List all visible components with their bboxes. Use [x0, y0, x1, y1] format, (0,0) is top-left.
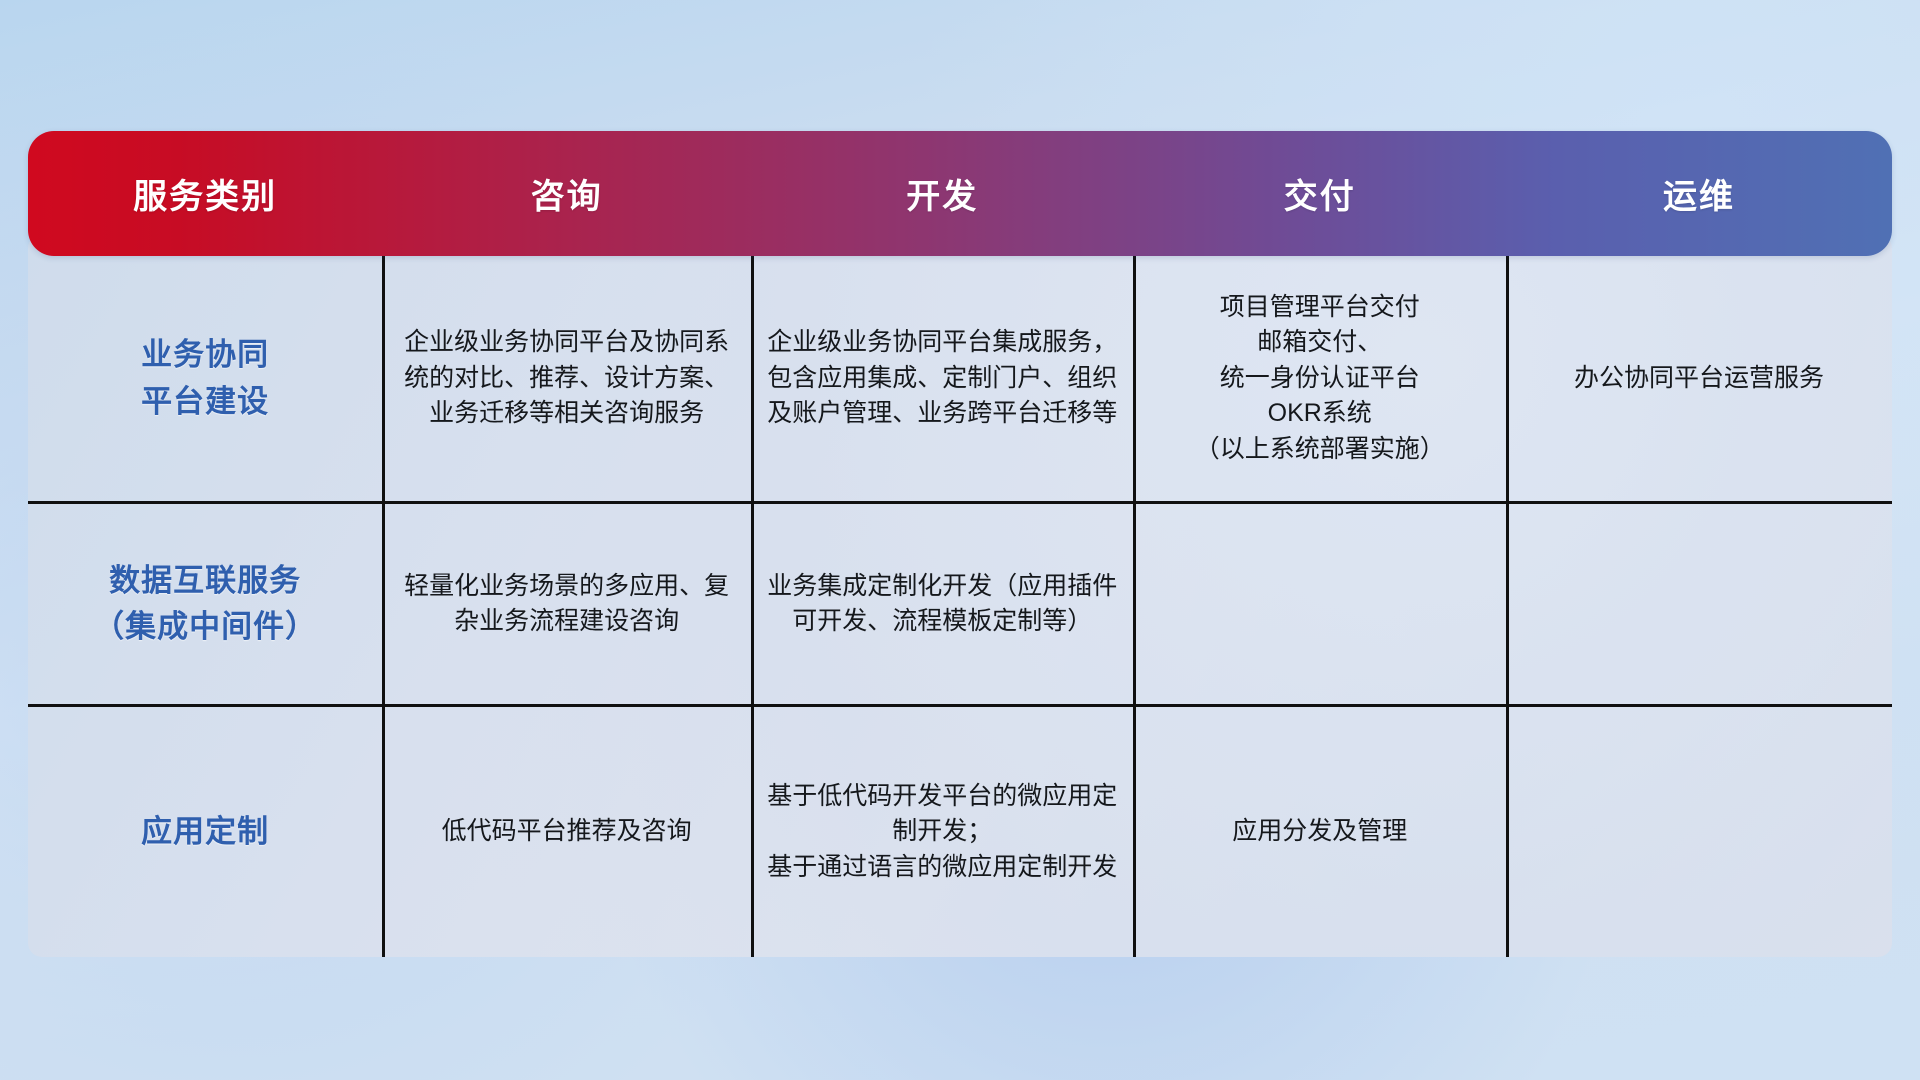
- column-header-delivery: 交付: [1133, 131, 1506, 256]
- table-row: 业务协同 平台建设 企业级业务协同平台及协同系 统的对比、推荐、设计方案、 业务…: [28, 256, 1892, 501]
- column-header-category: 服务类别: [28, 131, 382, 256]
- table-row: 应用定制 低代码平台推荐及咨询 基于低代码开发平台的微应用定 制开发； 基于通过…: [28, 704, 1892, 957]
- table-row: 数据互联服务 （集成中间件） 轻量化业务场景的多应用、复 杂业务流程建设咨询 业…: [28, 501, 1892, 704]
- cell-operations: [1506, 504, 1892, 704]
- cell-consulting: 轻量化业务场景的多应用、复 杂业务流程建设咨询: [382, 504, 751, 704]
- row-category-label: 业务协同 平台建设: [28, 256, 382, 501]
- cell-consulting: 低代码平台推荐及咨询: [382, 707, 751, 957]
- table-body: 业务协同 平台建设 企业级业务协同平台及协同系 统的对比、推荐、设计方案、 业务…: [28, 234, 1892, 957]
- column-header-operations: 运维: [1506, 131, 1892, 256]
- cell-development: 企业级业务协同平台集成服务， 包含应用集成、定制门户、组织 及账户管理、业务跨平…: [751, 256, 1133, 501]
- table-header-row: 服务类别 咨询 开发 交付 运维: [28, 131, 1892, 256]
- slide-canvas: 服务类别 咨询 开发 交付 运维 业务协同 平台建设 企业级业务协同平台及协同系…: [0, 0, 1920, 1080]
- cell-consulting: 企业级业务协同平台及协同系 统的对比、推荐、设计方案、 业务迁移等相关咨询服务: [382, 256, 751, 501]
- cell-development: 业务集成定制化开发（应用插件 可开发、流程模板定制等）: [751, 504, 1133, 704]
- cell-development: 基于低代码开发平台的微应用定 制开发； 基于通过语言的微应用定制开发: [751, 707, 1133, 957]
- column-header-consulting: 咨询: [382, 131, 751, 256]
- row-category-label: 数据互联服务 （集成中间件）: [28, 504, 382, 704]
- cell-operations: 办公协同平台运营服务: [1506, 256, 1892, 501]
- cell-delivery: [1133, 504, 1506, 704]
- cell-operations: [1506, 707, 1892, 957]
- row-category-label: 应用定制: [28, 707, 382, 957]
- cell-delivery: 项目管理平台交付 邮箱交付、 统一身份认证平台 OKR系统 （以上系统部署实施）: [1133, 256, 1506, 501]
- service-matrix-table: 服务类别 咨询 开发 交付 运维 业务协同 平台建设 企业级业务协同平台及协同系…: [28, 131, 1892, 951]
- cell-delivery: 应用分发及管理: [1133, 707, 1506, 957]
- column-header-development: 开发: [751, 131, 1133, 256]
